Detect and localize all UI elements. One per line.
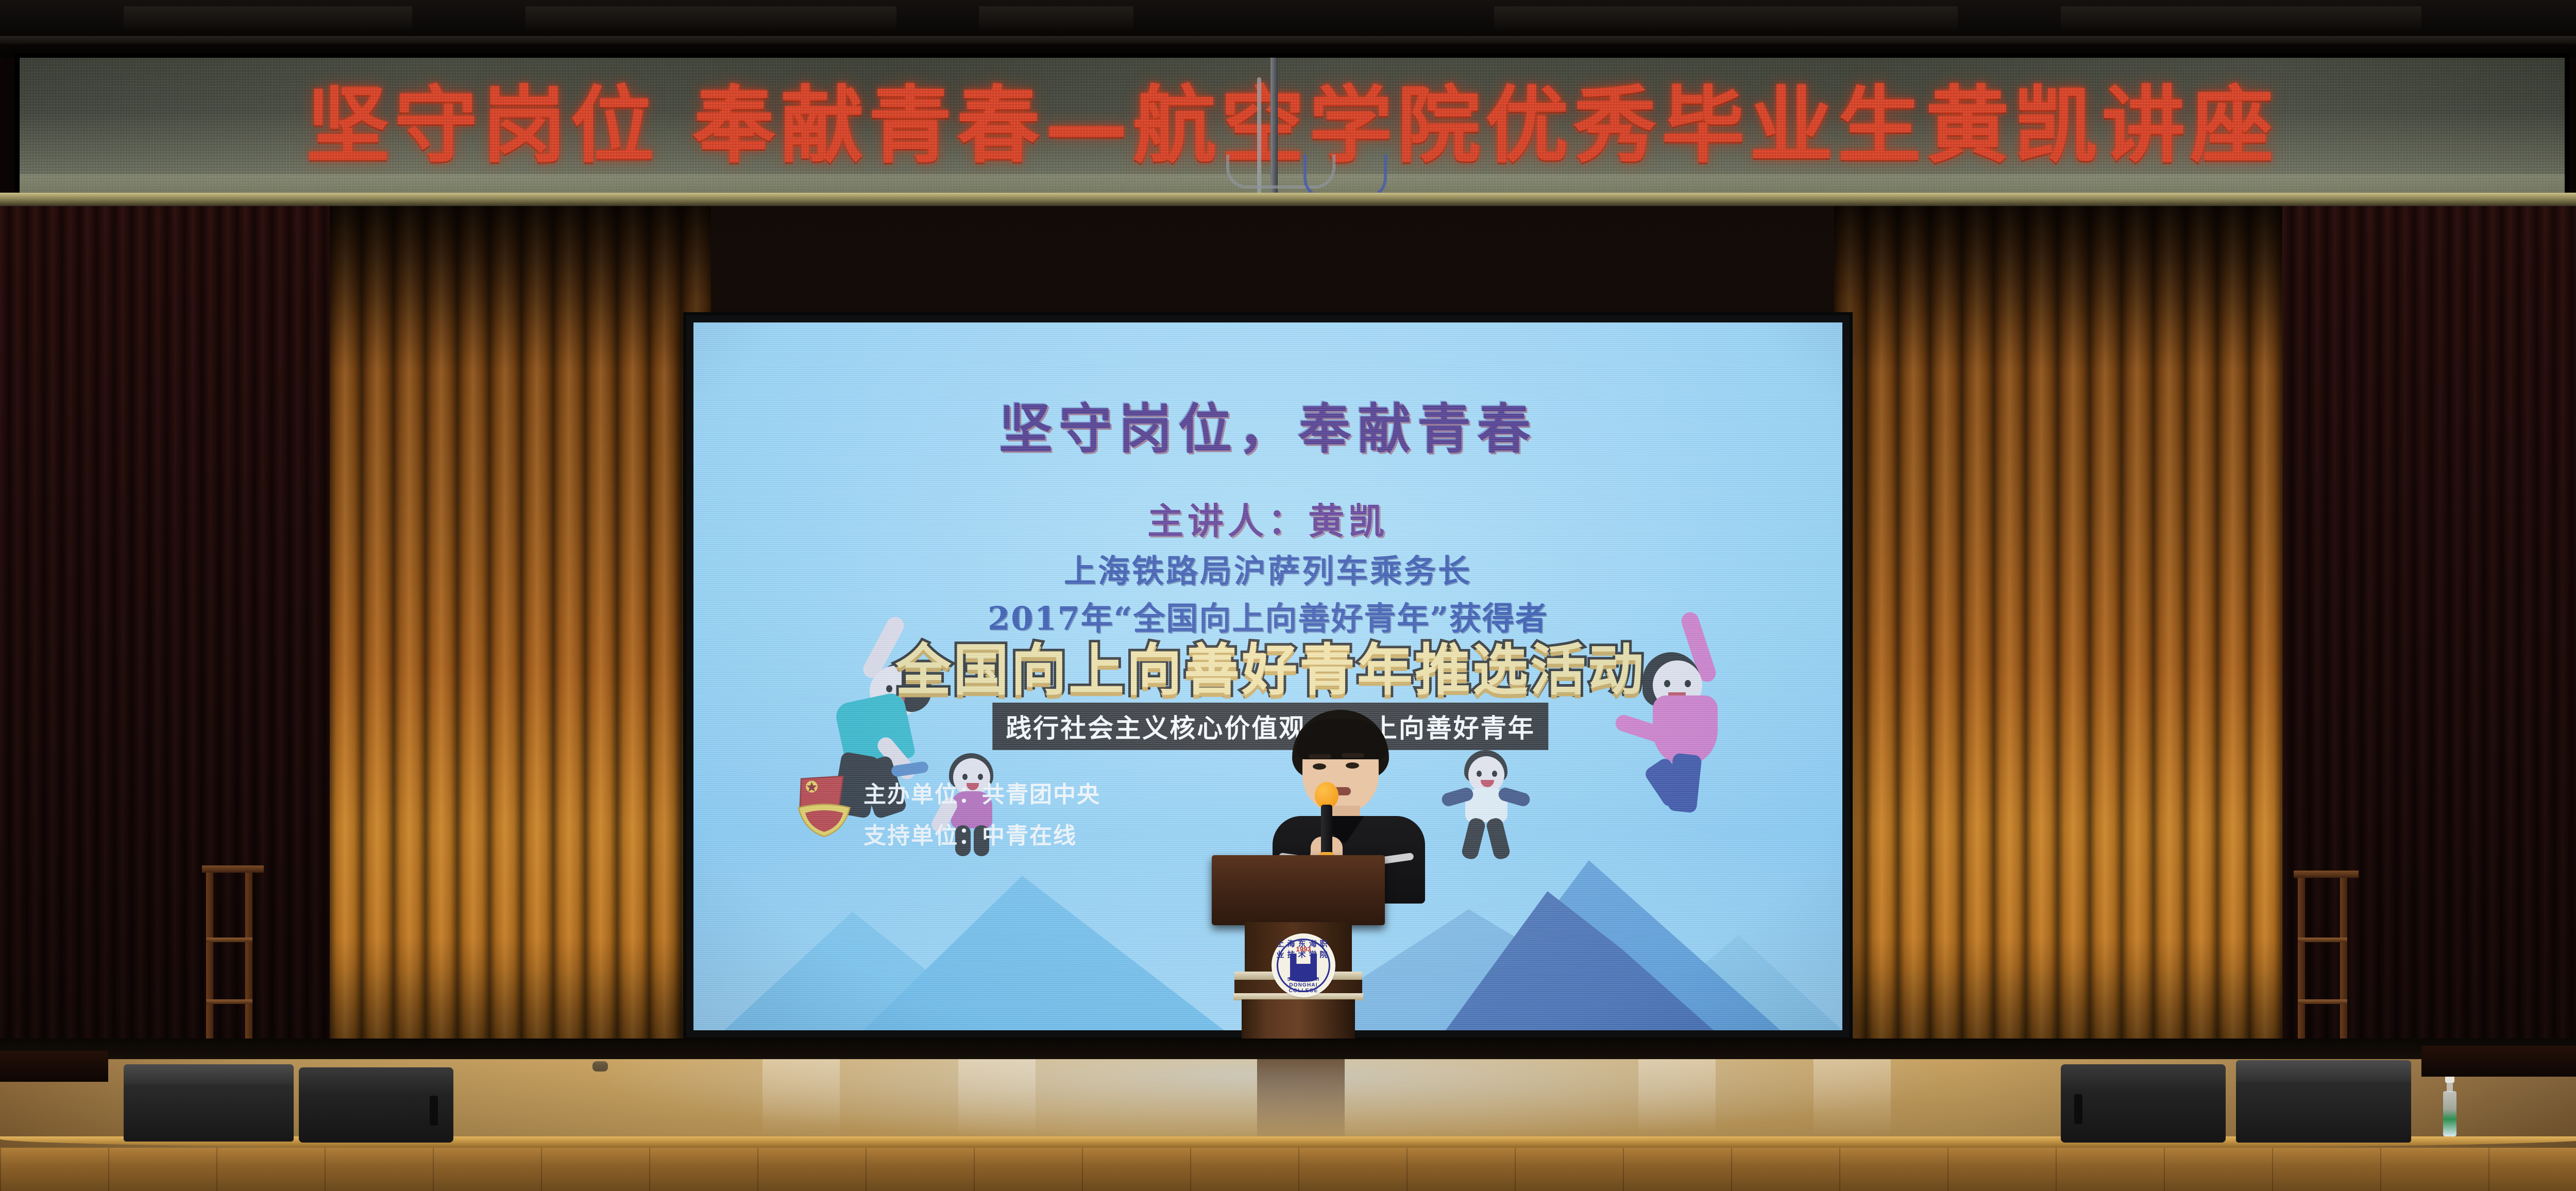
- auditorium-stage-scene: 坚守岗位 奉献青春—航空学院优秀毕业生黄凯讲座 EPSON: [0, 0, 2576, 1191]
- speaker-hair-front: [1296, 719, 1387, 759]
- podium-floor-reflection: [1257, 1059, 1345, 1142]
- youth-league-emblem: [791, 770, 858, 842]
- ceiling-duct: [2061, 6, 2421, 30]
- floor-reflection: [1638, 1059, 1716, 1136]
- slide-organizer-line: 主办单位：共青团中央: [863, 776, 1100, 809]
- stage-monitor-speaker: [299, 1067, 453, 1143]
- ceiling-rail: [0, 36, 2576, 44]
- speaker-eye: [1313, 763, 1326, 770]
- stage-monitor-speaker: [2236, 1060, 2411, 1143]
- slide-mountain-shape: [863, 876, 1224, 1030]
- floor-reflection: [958, 1059, 1036, 1136]
- speaker-eyebrow: [1309, 754, 1331, 759]
- stage-monitor-speaker: [2061, 1064, 2226, 1143]
- microphone-body: [1321, 805, 1332, 856]
- stage-front-panel: [0, 1148, 2576, 1191]
- water-bottle: [2443, 1075, 2456, 1136]
- stage-monitor-speaker: [124, 1064, 294, 1142]
- speaker-eyebrow: [1342, 753, 1364, 758]
- slide-graphic-headline: 全国向上向善好青年推选活动: [786, 625, 1755, 706]
- podium-top: [1212, 855, 1385, 925]
- emblem-en-name: SHANGHAI DONGHAI COLLEGE: [1274, 977, 1333, 994]
- ceiling-duct: [124, 6, 412, 30]
- stage-cable: [592, 1061, 608, 1071]
- floor-reflection: [762, 1059, 840, 1136]
- ceiling-duct: [1494, 6, 1958, 30]
- curtain-left: [330, 206, 711, 1092]
- curtain-leg-left-dark: [0, 206, 340, 1097]
- slide-affiliation: 上海铁路局沪萨列车乘务长: [693, 545, 1842, 591]
- floor-reflection: [1814, 1059, 1891, 1136]
- ceiling-duct: [526, 6, 896, 30]
- ceiling-duct: [979, 6, 1133, 30]
- slide-support-line: 支持单位：中青在线: [863, 817, 1077, 850]
- slide-title: 坚守岗位，奉献青春: [693, 385, 1842, 463]
- curtain-right: [1834, 206, 2298, 1092]
- emblem-year: 1993: [1274, 945, 1333, 953]
- podium-emblem: 上海东海职业技术学院 1993 SHANGHAI DONGHAI COLLEGE: [1274, 935, 1333, 995]
- wing-floor-shadow: [2421, 1046, 2576, 1077]
- slide-speaker-line: 主讲人：黄凯: [693, 492, 1842, 545]
- speaker-eye: [1346, 762, 1359, 769]
- bottle-neck: [2447, 1082, 2453, 1092]
- wing-floor-shadow: [0, 1051, 108, 1082]
- bottle-body: [2443, 1091, 2456, 1136]
- slide-cartoon-figure: [1440, 750, 1528, 859]
